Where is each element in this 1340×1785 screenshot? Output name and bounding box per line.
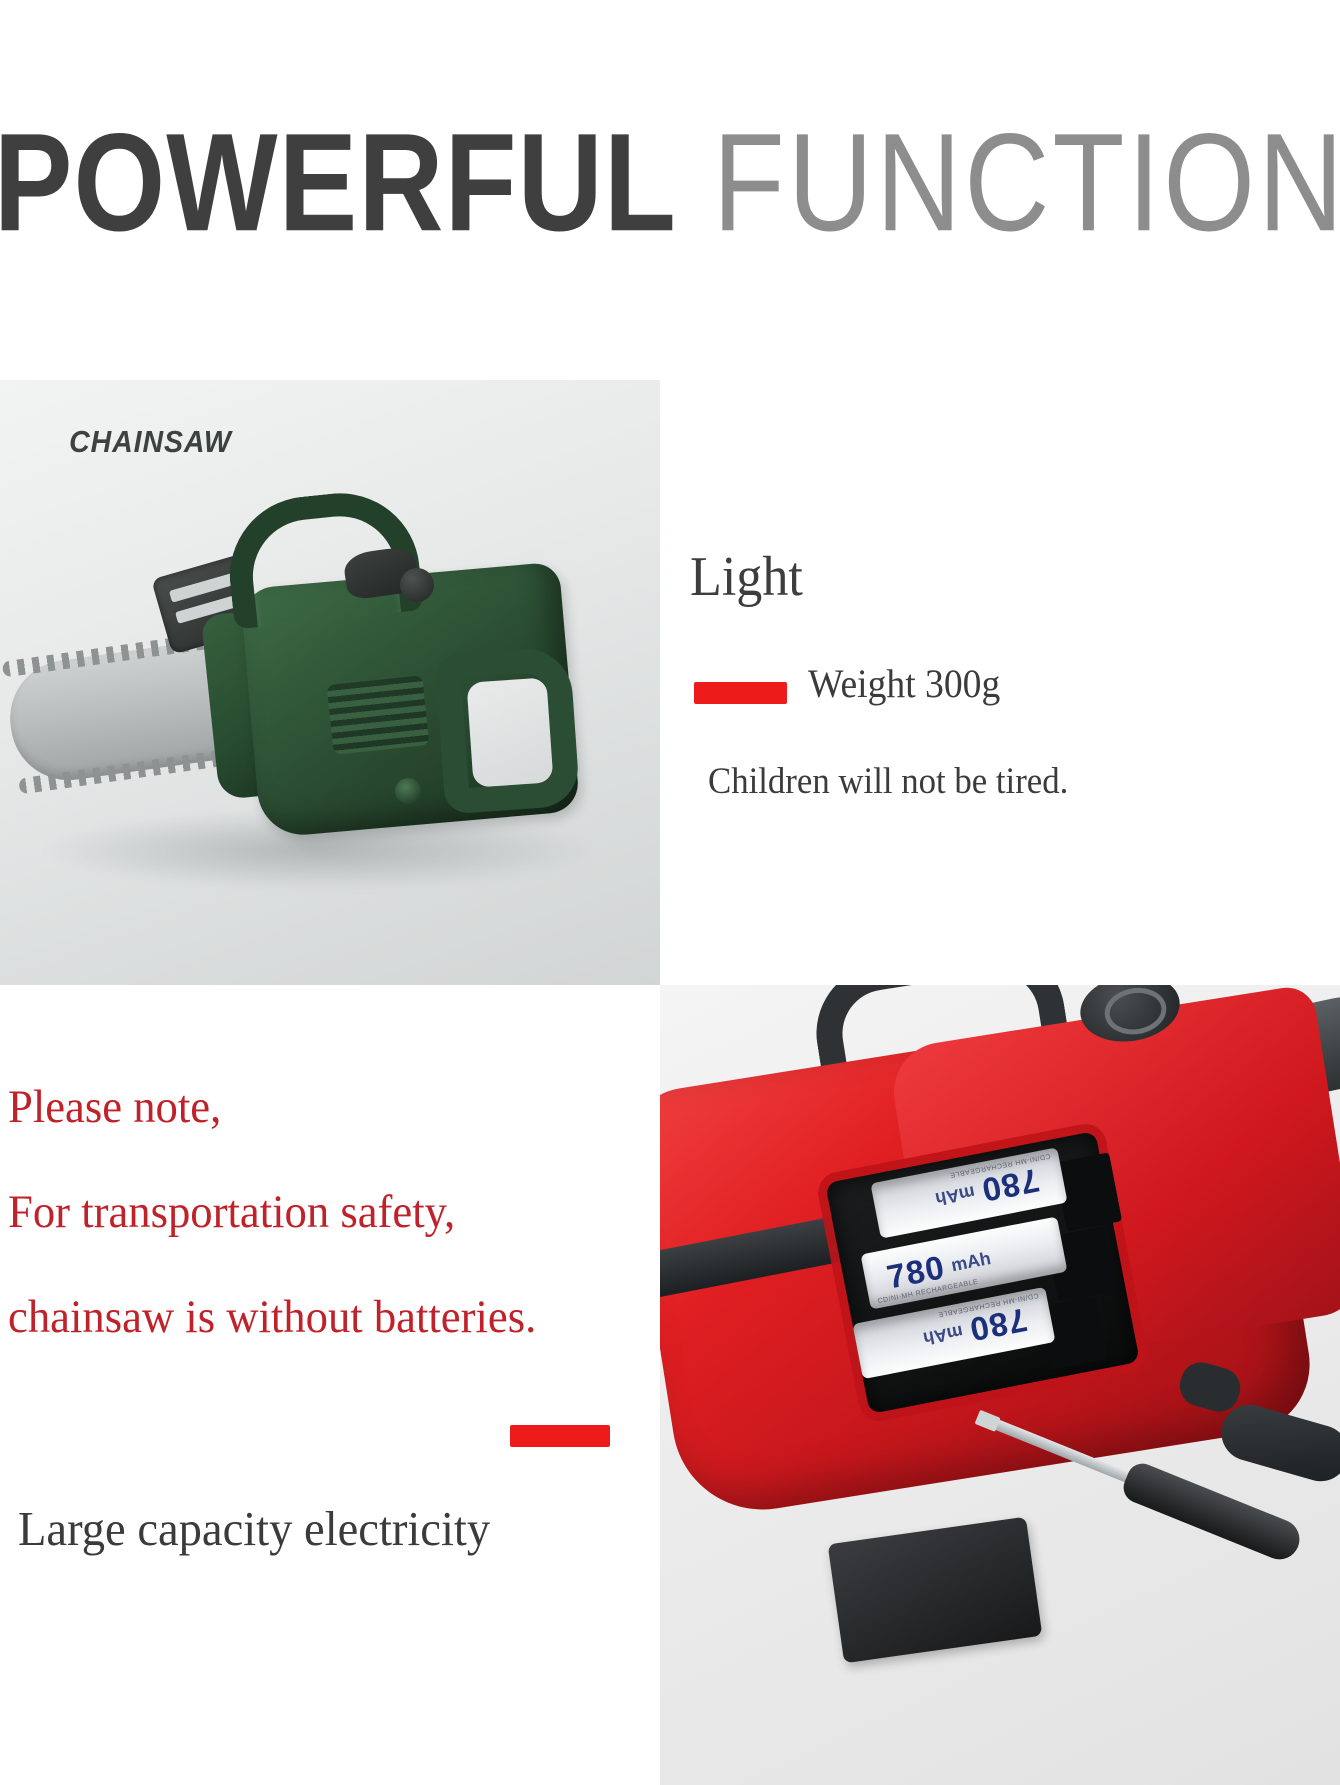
- adjust-knob: [400, 568, 434, 602]
- red-bar-tip: [1215, 1398, 1340, 1488]
- top-feature-row: CHAINSAW POWER Light Weight 300g Childre…: [0, 380, 1340, 985]
- air-vents: [327, 675, 430, 755]
- title-text: POWERFUL FUNCTION: [0, 113, 1340, 252]
- title-light-word: FUNCTION: [677, 105, 1340, 261]
- battery-capacity-unit-1: mAh: [934, 1182, 977, 1210]
- bottom-feature-row: Please note, For transportation safety, …: [0, 985, 1340, 1785]
- shipping-note-panel: Please note, For transportation safety, …: [0, 985, 660, 1785]
- feature-heading-light: Light: [690, 545, 803, 609]
- battery-capacity-unit-2: mAh: [949, 1248, 992, 1276]
- light-feature-panel: Light Weight 300g Children will not be t…: [660, 380, 1340, 985]
- note-line-1: Please note,: [8, 1080, 221, 1134]
- capacity-label: Large capacity electricity: [18, 1500, 490, 1557]
- red-accent-bar-capacity: [510, 1425, 610, 1447]
- battery-cover-door: [828, 1517, 1043, 1664]
- note-line-2: For transportation safety,: [8, 1185, 455, 1239]
- green-chainsaw-photo: CHAINSAW POWER: [0, 380, 660, 985]
- note-line-3: chainsaw is without batteries.: [8, 1290, 536, 1344]
- battery-capacity-unit-3: mAh: [922, 1321, 965, 1349]
- rear-handle-opening: [466, 677, 553, 787]
- red-accent-bar-weight: [694, 682, 787, 704]
- children-tired-label: Children will not be tired.: [708, 760, 1068, 803]
- red-chainsaw-photo: 780 mAh CD/NI-MH RECHARGEABLE 780 mAh CD…: [660, 985, 1340, 1785]
- guide-bar-brand-label: CHAINSAW: [69, 424, 232, 460]
- page-title: POWERFUL FUNCTION: [0, 0, 1340, 365]
- body-screw: [395, 778, 421, 804]
- title-strong-word: POWERFUL: [0, 105, 677, 261]
- weight-label: Weight 300g: [808, 660, 1000, 707]
- screwdriver-handle: [1119, 1459, 1306, 1565]
